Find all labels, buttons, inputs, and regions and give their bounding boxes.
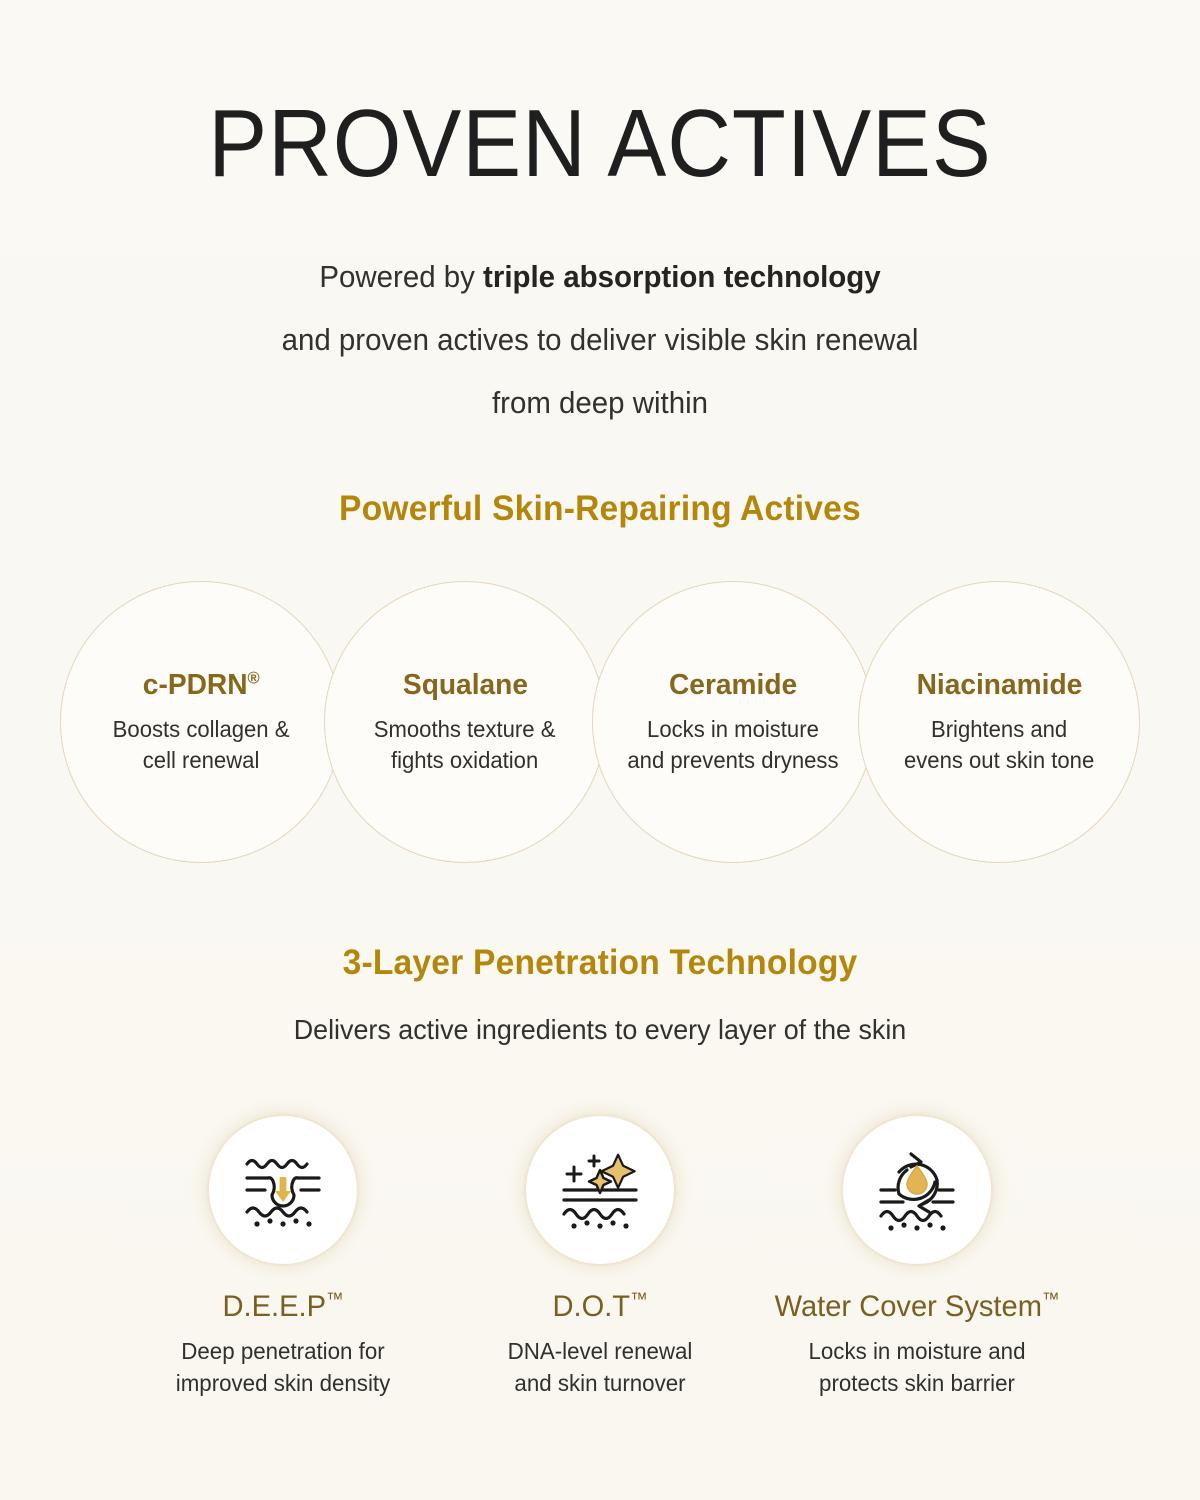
technology-name: Water Cover System™ <box>757 1290 1077 1324</box>
registered-trademark-icon: ® <box>247 668 259 687</box>
subtitle-line-1: Powered by triple absorption technology <box>30 245 1170 308</box>
subtitle-lead: Powered by <box>319 259 483 294</box>
active-card-squalane: Squalane Smooths texture & fights oxidat… <box>324 581 606 863</box>
active-name: c-PDRN® <box>143 669 260 702</box>
active-name: Squalane <box>402 669 527 702</box>
trademark-icon: ™ <box>630 1289 647 1309</box>
page-subtitle: Powered by triple absorption technology … <box>30 245 1170 434</box>
page-title: PROVEN ACTIVES <box>48 96 1152 192</box>
active-name-text: c-PDRN <box>143 669 248 701</box>
technology-name-text: D.E.E.P <box>223 1290 327 1323</box>
active-description: Locks in moisture and prevents dryness <box>627 714 838 776</box>
cycle-arrow-head-bottom <box>919 1200 929 1212</box>
technology-section-heading: 3-Layer Penetration Technology <box>24 943 1176 983</box>
skin-dots <box>571 1220 628 1228</box>
skin-penetration-arrow-icon <box>235 1142 331 1238</box>
icon-bubble <box>843 1116 991 1264</box>
trademark-icon: ™ <box>1042 1289 1059 1309</box>
actives-section-heading: Powerful Skin-Repairing Actives <box>24 489 1176 529</box>
technology-description: DNA-level renewal and skin turnover <box>440 1335 760 1399</box>
active-card-c-pdrn: c-PDRN® Boosts collagen & cell renewal <box>60 581 342 863</box>
technology-name-text: Water Cover System <box>775 1290 1042 1323</box>
active-card-niacinamide: Niacinamide Brightens and evens out skin… <box>858 581 1140 863</box>
water-droplet <box>907 1166 927 1194</box>
sparkle-cross-small <box>589 1156 599 1166</box>
technology-name: D.E.E.P™ <box>123 1290 443 1324</box>
technology-description: Locks in moisture and protects skin barr… <box>757 1335 1077 1399</box>
icon-bubble <box>209 1116 357 1264</box>
skin-sparkle-renewal-icon <box>552 1142 648 1238</box>
trademark-icon: ™ <box>326 1289 343 1309</box>
active-name-text: Squalane <box>402 669 527 701</box>
active-description: Smooths texture & fights oxidation <box>374 714 556 776</box>
technology-section-subheading: Delivers active ingredients to every lay… <box>24 1014 1176 1046</box>
infographic-page: PROVEN ACTIVES Powered by triple absorpt… <box>0 0 1200 1500</box>
technology-card-water-cover: Water Cover System™ Locks in moisture an… <box>752 1100 1082 1399</box>
active-description: Boosts collagen & cell renewal <box>113 714 290 776</box>
active-name: Niacinamide <box>916 669 1082 702</box>
technology-name-text: D.O.T <box>552 1290 630 1323</box>
subtitle-line-2: and proven actives to deliver visible sk… <box>30 308 1170 371</box>
technology-description: Deep penetration for improved skin densi… <box>123 1335 443 1399</box>
technology-card-dot: D.O.T™ DNA-level renewal and skin turnov… <box>435 1100 765 1399</box>
water-droplet-cycle-icon <box>869 1142 965 1238</box>
active-description: Brightens and evens out skin tone <box>904 714 1094 776</box>
active-name-text: Niacinamide <box>916 669 1082 701</box>
technology-card-deep: D.E.E.P™ Deep penetration for improved s… <box>118 1100 448 1399</box>
technology-name: D.O.T™ <box>440 1290 760 1324</box>
skin-dots <box>254 1218 311 1226</box>
subtitle-line-3: from deep within <box>30 371 1170 434</box>
icon-bubble <box>526 1116 674 1264</box>
absorption-arrow <box>275 1177 291 1202</box>
technology-item-row: D.E.E.P™ Deep penetration for improved s… <box>0 1100 1200 1440</box>
active-card-ceramide: Ceramide Locks in moisture and prevents … <box>592 581 874 863</box>
active-name-text: Ceramide <box>669 669 797 701</box>
sparkle-cross-large <box>567 1167 581 1181</box>
actives-circle-row: c-PDRN® Boosts collagen & cell renewal S… <box>0 581 1200 871</box>
active-name: Ceramide <box>669 669 797 702</box>
subtitle-emphasis: triple absorption technology <box>483 259 881 294</box>
skin-dots <box>888 1222 945 1230</box>
